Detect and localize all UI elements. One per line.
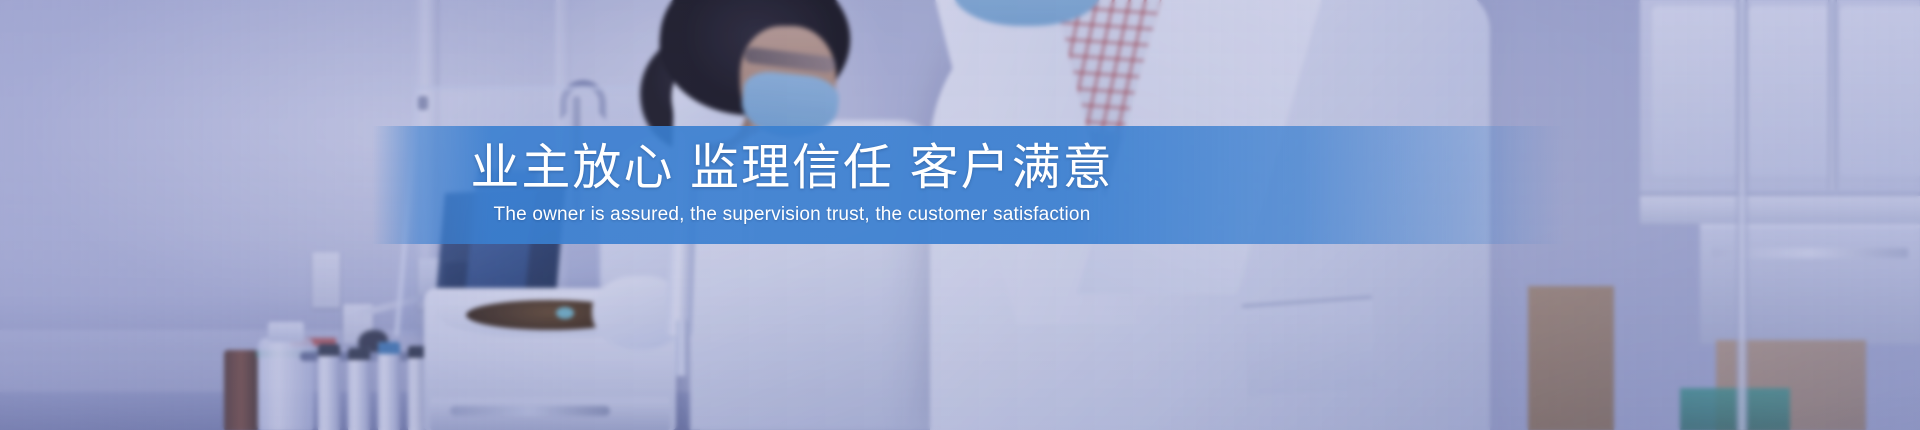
lab-hero-banner: 业主放心 监理信任 客户满意 The owner is assured, the… xyxy=(0,0,1920,430)
headline-band xyxy=(372,126,1564,244)
